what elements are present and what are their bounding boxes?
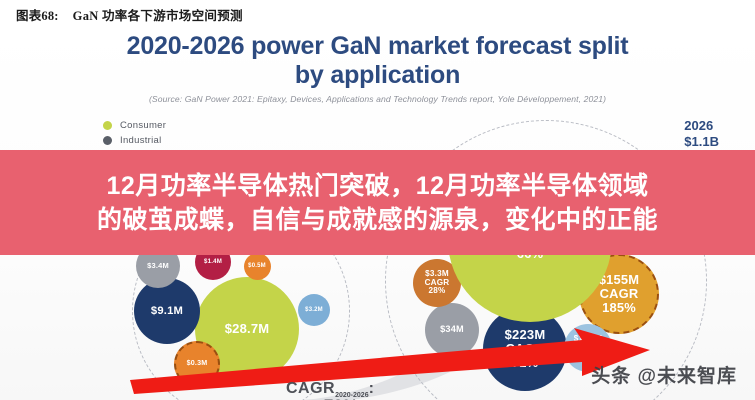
chart-title-line2: by application — [0, 61, 755, 90]
cagr-annotation: CAGR2020-2026: +70% — [286, 380, 374, 400]
headline-line-1: 12月功率半导体热门突破，12月功率半导体领域 — [106, 169, 648, 203]
year-total-label: 2026 $1.1B — [684, 118, 719, 150]
figure-number: 图表68: — [16, 5, 59, 24]
year-value: $1.1B — [684, 134, 719, 150]
headline-text: 12月功率半导体热门突破，12月功率半导体领域 的破茧成蝶，自信与成就感的源泉，… — [0, 150, 755, 255]
bubble-value: $3.2M — [305, 307, 323, 313]
bubble: $0.5M — [244, 253, 271, 280]
bubble-cagr: 185% — [602, 301, 636, 315]
legend-item: Consumer — [103, 120, 209, 131]
screenshot-root: 图表68: GaN 功率各下游市场空间预测 $28.7M$9.1M$3.4M$1… — [0, 0, 755, 400]
year-label: 2026 — [684, 118, 719, 134]
bubble-value: $3.4M — [147, 262, 169, 270]
bubble-cagr: CAGR — [600, 287, 639, 301]
chart-source-note: (Source: GaN Power 2021: Epitaxy, Device… — [0, 94, 755, 104]
bubble-cagr: 28% — [429, 287, 446, 296]
watermark: 头条 @未来智库 — [591, 361, 737, 388]
legend-swatch-icon — [103, 121, 112, 130]
bubble-value: $1.4M — [204, 259, 222, 266]
bubble: $3.2M — [298, 294, 330, 326]
bubble-value: $155M — [599, 273, 639, 287]
chart-title-line1: 2020-2026 power GaN market forecast spli… — [0, 32, 755, 61]
legend-swatch-icon — [103, 136, 112, 145]
cagr-colon: : — [369, 380, 375, 397]
bubble-value: $0.5M — [248, 263, 266, 269]
page-title: GaN 功率各下游市场空间预测 — [73, 5, 243, 24]
chart-title: 2020-2026 power GaN market forecast spli… — [0, 32, 755, 90]
legend-label: Consumer — [120, 120, 166, 131]
legend-label: Industrial — [120, 135, 162, 146]
legend-item: Industrial — [103, 135, 209, 146]
bubble-value: $9.1M — [151, 305, 183, 317]
document-header: 图表68: GaN 功率各下游市场空间预测 — [0, 0, 755, 28]
cagr-label: CAGR — [286, 380, 335, 397]
growth-arrow-icon — [130, 328, 650, 398]
headline-line-2: 的破茧成蝶，自信与成就感的源泉，变化中的正能 — [97, 203, 658, 237]
